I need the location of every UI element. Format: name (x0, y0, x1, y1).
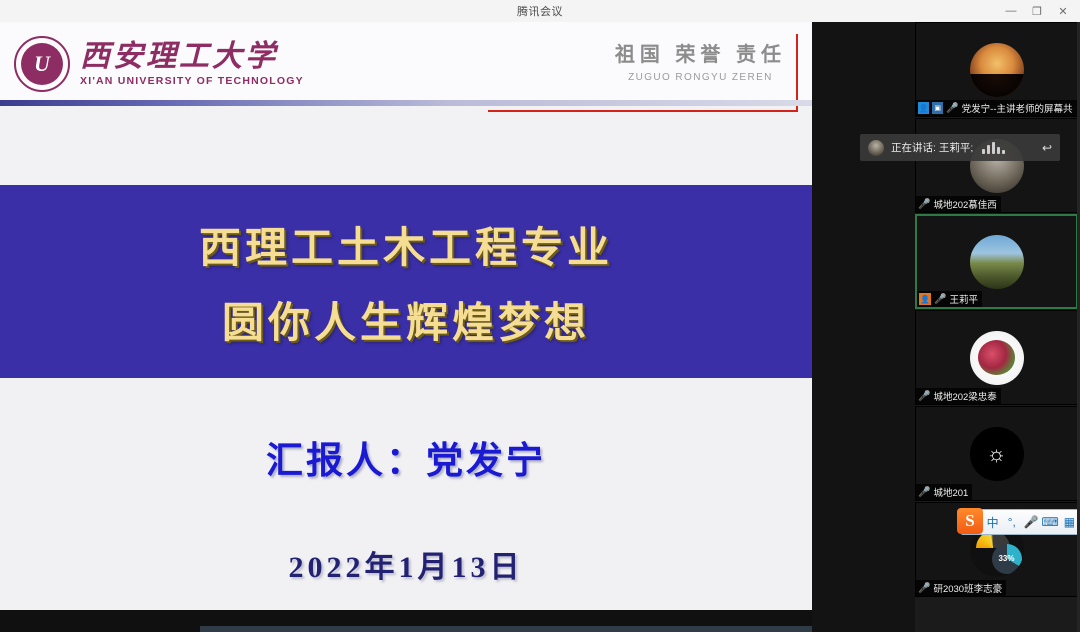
window-controls: — ❐ ✕ (998, 0, 1076, 22)
seal-letter: U (34, 51, 50, 77)
participant-name: 党发宁--主讲老师的屏幕共享 (962, 101, 1073, 115)
speaking-text: 正在讲话: 王莉平; (891, 140, 973, 155)
punctuation-mode-icon[interactable]: °, (1002, 515, 1021, 529)
tile-label-bar: 👤 ▣ 🎤 党发宁--主讲老师的屏幕共享 (916, 100, 1077, 116)
soft-keyboard-icon[interactable]: ⌨ (1041, 515, 1060, 529)
sogou-ime-toolbar[interactable]: S 中 °, 🎤 ⌨ ▦ (960, 509, 1080, 535)
avatar (970, 331, 1024, 385)
participant-name: 城地202慕佳西 (933, 197, 996, 211)
participant-tile[interactable]: 🎤 城地202慕佳西 (915, 118, 1078, 213)
slide-header: U 西安理工大学 XI'AN UNIVERSITY OF TECHNOLOGY … (0, 22, 812, 106)
voice-input-icon[interactable]: 🎤 (1021, 515, 1040, 529)
screen-share-badge-icon: ▣ (932, 102, 943, 114)
host-badge-icon: 👤 (918, 102, 929, 114)
mic-muted-icon: 🎤 (918, 487, 930, 498)
presenter-line: 汇报人：党发宁 (266, 430, 546, 484)
university-name-en: XI'AN UNIVERSITY OF TECHNOLOGY (80, 76, 304, 87)
participant-name: 城地202梁忠泰 (933, 389, 996, 403)
tile-label-bar: 🎤 城地201 (916, 484, 972, 500)
donut-percent: 33% (998, 554, 1014, 563)
participant-rail: 👤 ▣ 🎤 党发宁--主讲老师的屏幕共享 🎤 城地202慕佳西 👤 (812, 22, 1080, 632)
motto-horizontal-rule (488, 110, 798, 112)
participant-tile[interactable]: 🎤 城地202梁忠泰 (915, 310, 1078, 405)
participant-name: 王莉平 (949, 292, 978, 306)
close-button[interactable]: ✕ (1050, 0, 1076, 22)
mic-muted-icon: 🎤 (918, 391, 930, 402)
window-titlebar: 腾讯会议 — ❐ ✕ (0, 0, 1080, 22)
minimize-button[interactable]: — (998, 0, 1024, 22)
tile-label-bar: 👤 🎤 王莉平 (917, 291, 982, 307)
reply-icon[interactable]: ↩ (1042, 141, 1052, 155)
mic-muted-icon: 🎤 (918, 583, 930, 594)
header-gradient-rule (0, 100, 812, 106)
participant-tile[interactable]: 👤 ▣ 🎤 党发宁--主讲老师的屏幕共享 (915, 22, 1078, 117)
university-name-cn: 西安理工大学 (80, 42, 304, 72)
speaker-badge-icon: 👤 (919, 293, 931, 305)
sogou-logo-icon[interactable]: S (957, 508, 983, 534)
tile-label-bar: 🎤 研2030班李志豪 (916, 580, 1006, 596)
rail-gutter (812, 22, 915, 632)
audio-wave-icon (982, 142, 1005, 154)
mic-muted-icon: 🎤 (918, 199, 930, 210)
motto-en: ZUGUO RONGYU ZEREN (615, 72, 786, 83)
participant-tile[interactable]: ☼ 🎤 城地201 (915, 406, 1078, 501)
meeting-window: 腾讯会议 — ❐ ✕ U 西安理工大学 XI'AN UNIVERSITY OF … (0, 0, 1080, 632)
donut-chart-icon: 33% (992, 544, 1022, 574)
slide-lower-section: 汇报人：党发宁 2022年1月13日 (0, 378, 812, 610)
tile-label-bar: 🎤 城地202慕佳西 (916, 196, 1001, 212)
mic-on-icon: 🎤 (934, 294, 946, 305)
tile-label-bar: 🎤 城地202梁忠泰 (916, 388, 1001, 404)
avatar (970, 235, 1024, 289)
university-seal-icon: U (14, 36, 70, 92)
banner-line-1: 西理工土木工程专业 (199, 214, 613, 275)
restore-button[interactable]: ❐ (1024, 0, 1050, 22)
shared-screen-stage[interactable]: U 西安理工大学 XI'AN UNIVERSITY OF TECHNOLOGY … (0, 22, 812, 610)
university-logo: U 西安理工大学 XI'AN UNIVERSITY OF TECHNOLOGY (0, 36, 304, 92)
language-mode-icon[interactable]: 中 (983, 514, 1002, 531)
toast-avatar (868, 140, 884, 156)
banner-line-2: 圆你人生辉煌梦想 (222, 289, 590, 350)
participant-tile-active[interactable]: 👤 🎤 王莉平 (915, 214, 1078, 309)
window-title: 腾讯会议 (517, 3, 563, 19)
avatar: ☼ (970, 427, 1024, 481)
mic-on-icon: 🎤 (946, 103, 958, 114)
slide-banner: 西理工土木工程专业 圆你人生辉煌梦想 (0, 185, 812, 378)
motto-block: 祖国 荣誉 责任 ZUGUO RONGYU ZEREN (615, 38, 786, 83)
slide-date: 2022年1月13日 (289, 542, 524, 586)
participant-name: 城地201 (933, 485, 968, 499)
avatar (970, 43, 1024, 97)
motto-cn: 祖国 荣誉 责任 (615, 38, 786, 67)
speaking-toast: 正在讲话: 王莉平; ↩ (860, 134, 1060, 161)
participant-name: 研2030班李志豪 (933, 581, 1002, 595)
